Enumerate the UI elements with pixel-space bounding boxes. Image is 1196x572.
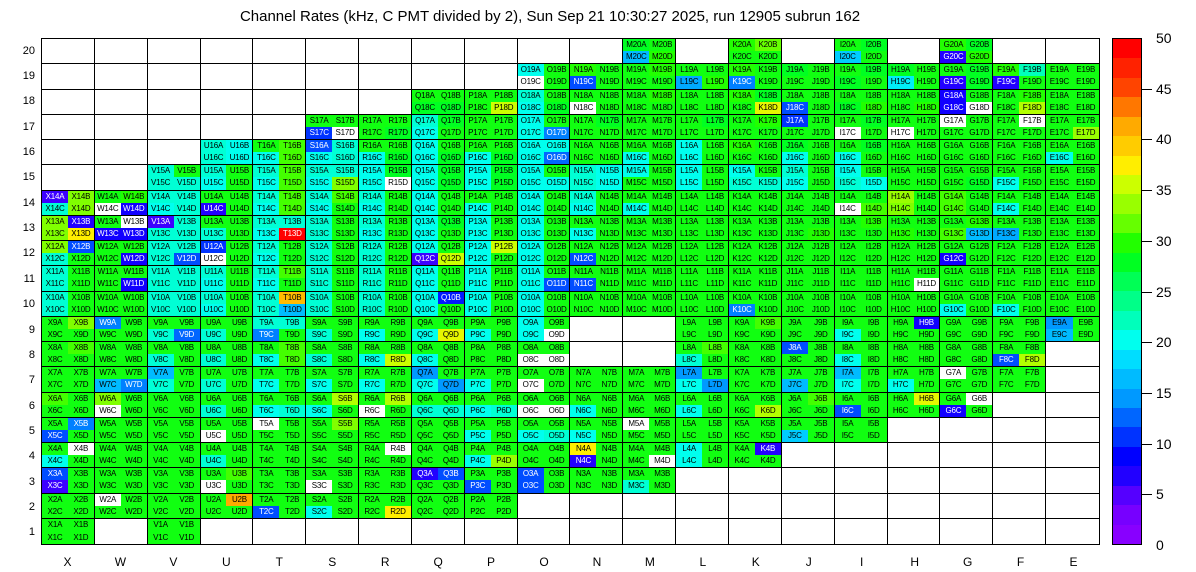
channel-cell: K10C: [729, 304, 755, 316]
channel-cell: S8B: [332, 342, 358, 354]
channel-cell: M12C: [623, 253, 649, 265]
heatmap-tile: [729, 494, 782, 519]
channel-cell: W8B: [121, 342, 147, 354]
channel-cell: Q14D: [438, 203, 464, 215]
channel-cell: J15D: [808, 177, 834, 189]
channel-cell: V2A: [148, 494, 174, 506]
channel-cell: X10A: [42, 292, 68, 304]
heatmap-tile: K20AK20BK20CK20D: [729, 39, 782, 64]
heatmap-tile: Q10AQ10BQ10CQ10D: [412, 292, 465, 317]
channel-cell: O18D: [544, 102, 570, 114]
heatmap-tile: [148, 140, 201, 165]
heatmap-tile: G17AG17BG17CG17D: [940, 115, 993, 140]
channel-cell: U2C: [201, 506, 227, 518]
channel-cell: X8A: [42, 342, 68, 354]
channel-cell: S15D: [332, 177, 358, 189]
channel-cell: U10C: [201, 304, 227, 316]
channel-cell: T12D: [279, 253, 305, 265]
channel-cell: V6B: [174, 393, 200, 405]
channel-cell: K20C: [729, 51, 755, 63]
channel-cell: [914, 455, 940, 467]
channel-cell: I9B: [861, 317, 887, 329]
channel-cell: G19C: [940, 76, 966, 88]
channel-cell: [835, 468, 861, 480]
channel-cell: G10A: [940, 292, 966, 304]
heatmap-tile: T9AT9BT9CT9D: [253, 317, 306, 342]
channel-cell: [42, 152, 68, 164]
channel-cell: N19B: [596, 64, 622, 76]
channel-cell: Q5C: [412, 430, 438, 442]
heatmap-tile: [993, 519, 1046, 544]
channel-cell: U4C: [201, 455, 227, 467]
channel-cell: L18A: [676, 90, 702, 102]
channel-cell: N11B: [596, 266, 622, 278]
heatmap-tile: S7AS7BS7CS7D: [306, 367, 359, 392]
channel-cell: [966, 519, 992, 532]
channel-cell: [888, 443, 914, 455]
channel-cell: N16A: [570, 140, 596, 152]
channel-cell: S14D: [332, 203, 358, 215]
channel-cell: Q10B: [438, 292, 464, 304]
channel-cell: G9A: [940, 317, 966, 329]
channel-cell: H12C: [888, 253, 914, 265]
heatmap-tile: V14AV14BV14CV14D: [148, 191, 201, 216]
channel-cell: [570, 531, 596, 544]
channel-cell: U15B: [226, 165, 252, 177]
channel-cell: [253, 64, 279, 76]
channel-cell: F12B: [1019, 241, 1045, 253]
channel-cell: F14C: [993, 203, 1019, 215]
heatmap-tile: W7AW7BW7CW7D: [95, 367, 148, 392]
channel-cell: H19B: [914, 64, 940, 76]
channel-cell: [1046, 455, 1072, 467]
channel-cell: P16B: [491, 140, 517, 152]
heatmap-tile: H12AH12BH12CH12D: [888, 241, 941, 266]
heatmap-tile: [570, 39, 623, 64]
channel-cell: [95, 76, 121, 88]
channel-cell: [253, 76, 279, 88]
channel-cell: P15A: [465, 165, 491, 177]
channel-cell: L16A: [676, 140, 702, 152]
channel-cell: G7B: [966, 367, 992, 379]
heatmap-tile: V12AV12BV12CV12D: [148, 241, 201, 266]
channel-cell: T11B: [279, 266, 305, 278]
heatmap-plot-area: M20AM20BM20CM20DK20AK20BK20CK20DI20AI20B…: [41, 38, 1100, 545]
channel-cell: L7B: [702, 367, 728, 379]
channel-cell: R10B: [385, 292, 411, 304]
channel-cell: [95, 115, 121, 127]
channel-cell: R11A: [359, 266, 385, 278]
channel-cell: [1073, 430, 1099, 442]
channel-cell: G18C: [940, 102, 966, 114]
channel-cell: S2C: [306, 506, 332, 518]
heatmap-tile: [42, 115, 95, 140]
heatmap-tile: Q12AQ12BQ12CQ12D: [412, 241, 465, 266]
channel-cell: [993, 443, 1019, 455]
channel-cell: X1C: [42, 531, 68, 544]
channel-cell: X12B: [68, 241, 94, 253]
channel-cell: [1073, 379, 1099, 391]
channel-cell: J18D: [808, 102, 834, 114]
channel-cell: J5B: [808, 418, 834, 430]
channel-cell: M4A: [623, 443, 649, 455]
channel-cell: M3B: [649, 468, 675, 480]
channel-cell: K6D: [755, 405, 781, 417]
channel-cell: L19D: [702, 76, 728, 88]
y-axis-label: 20: [9, 45, 35, 57]
channel-cell: V10D: [174, 304, 200, 316]
channel-cell: T15A: [253, 165, 279, 177]
channel-cell: H14C: [888, 203, 914, 215]
channel-cell: W11C: [95, 278, 121, 290]
channel-cell: R4B: [385, 443, 411, 455]
channel-cell: [993, 494, 1019, 506]
channel-cell: [649, 506, 675, 518]
channel-cell: R15A: [359, 165, 385, 177]
heatmap-tile: I14AI14BI14CI14D: [835, 191, 888, 216]
y-axis-label: 7: [9, 374, 35, 386]
channel-cell: [359, 39, 385, 51]
channel-cell: O6C: [518, 405, 544, 417]
channel-cell: R16D: [385, 152, 411, 164]
channel-cell: Q13B: [438, 216, 464, 228]
channel-cell: F11C: [993, 278, 1019, 290]
channel-cell: L16C: [676, 152, 702, 164]
channel-cell: W4D: [121, 455, 147, 467]
channel-cell: G7C: [940, 379, 966, 391]
channel-cell: V8C: [148, 354, 174, 366]
channel-cell: K20D: [755, 51, 781, 63]
channel-cell: X7A: [42, 367, 68, 379]
channel-cell: [676, 39, 702, 51]
channel-cell: T6C: [253, 405, 279, 417]
heatmap-tile: Q18AQ18BQ18CQ18D: [412, 90, 465, 115]
heatmap-tile: G8AG8BG8CG8D: [940, 342, 993, 367]
channel-cell: U6A: [201, 393, 227, 405]
channel-cell: V3D: [174, 480, 200, 492]
channel-cell: H10C: [888, 304, 914, 316]
heatmap-tile: L19AL19BL19CL19D: [676, 64, 729, 89]
channel-cell: [42, 51, 68, 63]
channel-cell: S3B: [332, 468, 358, 480]
channel-cell: E9D: [1073, 329, 1099, 341]
heatmap-tile: V15AV15BV15CV15D: [148, 165, 201, 190]
channel-cell: H9D: [914, 329, 940, 341]
heatmap-tile: [676, 39, 729, 64]
channel-cell: L10C: [676, 304, 702, 316]
channel-cell: N11C: [570, 278, 596, 290]
heatmap-tile: S14AS14BS14CS14D: [306, 191, 359, 216]
colorbar-tick: [1142, 241, 1152, 242]
channel-cell: N17C: [570, 127, 596, 139]
channel-cell: W12A: [95, 241, 121, 253]
heatmap-tile: [676, 519, 729, 544]
channel-cell: E10D: [1073, 304, 1099, 316]
heatmap-tile: [993, 443, 1046, 468]
channel-cell: O19D: [544, 76, 570, 88]
heatmap-tile: [359, 519, 412, 544]
channel-cell: [782, 519, 808, 532]
channel-cell: S7C: [306, 379, 332, 391]
channel-cell: [993, 430, 1019, 442]
channel-cell: Q8A: [412, 342, 438, 354]
channel-cell: [306, 64, 332, 76]
heatmap-tile: P7AP7BP7CP7D: [465, 367, 518, 392]
channel-cell: H19A: [888, 64, 914, 76]
channel-cell: [306, 76, 332, 88]
channel-cell: Q2D: [438, 506, 464, 518]
channel-cell: V12D: [174, 253, 200, 265]
channel-cell: E10A: [1046, 292, 1072, 304]
channel-cell: L14D: [702, 203, 728, 215]
channel-cell: P17D: [491, 127, 517, 139]
channel-cell: T2C: [253, 506, 279, 518]
channel-cell: F8B: [1019, 342, 1045, 354]
channel-cell: O15D: [544, 177, 570, 189]
channel-cell: R5A: [359, 418, 385, 430]
channel-cell: V5D: [174, 430, 200, 442]
channel-cell: H8A: [888, 342, 914, 354]
channel-cell: S4C: [306, 455, 332, 467]
heatmap-tile: H18AH18BH18CH18D: [888, 90, 941, 115]
heatmap-tile: M3AM3BM3CM3D: [623, 468, 676, 493]
channel-cell: T5C: [253, 430, 279, 442]
channel-cell: R4D: [385, 455, 411, 467]
channel-cell: V9A: [148, 317, 174, 329]
channel-cell: G13D: [966, 228, 992, 240]
channel-cell: K19D: [755, 76, 781, 88]
channel-cell: G19D: [966, 76, 992, 88]
channel-cell: I13A: [835, 216, 861, 228]
channel-cell: I13D: [861, 228, 887, 240]
channel-cell: [1019, 468, 1045, 480]
heatmap-tile: F10AF10BF10CF10D: [993, 292, 1046, 317]
channel-cell: [993, 39, 1019, 51]
channel-cell: [940, 506, 966, 518]
channel-cell: [914, 480, 940, 492]
channel-cell: P18B: [491, 90, 517, 102]
channel-cell: O6B: [544, 393, 570, 405]
channel-cell: [359, 76, 385, 88]
channel-cell: O7B: [544, 367, 570, 379]
channel-cell: H12A: [888, 241, 914, 253]
heatmap-tile: G18AG18BG18CG18D: [940, 90, 993, 115]
channel-cell: [121, 152, 147, 164]
channel-cell: [544, 494, 570, 506]
channel-cell: S4B: [332, 443, 358, 455]
channel-cell: O12B: [544, 241, 570, 253]
channel-cell: [544, 531, 570, 544]
channel-cell: S13A: [306, 216, 332, 228]
channel-cell: [332, 76, 358, 88]
heatmap-tile: V4AV4BV4CV4D: [148, 443, 201, 468]
heatmap-tile: U15AU15BU15CU15D: [201, 165, 254, 190]
heatmap-tile: U9AU9BU9CU9D: [201, 317, 254, 342]
channel-cell: L18B: [702, 90, 728, 102]
channel-cell: R16B: [385, 140, 411, 152]
channel-cell: N14B: [596, 191, 622, 203]
channel-cell: F11A: [993, 266, 1019, 278]
channel-cell: [835, 455, 861, 467]
heatmap-tile: E11AE11BE11CE11D: [1046, 266, 1099, 291]
x-axis-label: R: [381, 555, 390, 569]
channel-cell: Q14B: [438, 191, 464, 203]
channel-cell: K20B: [755, 39, 781, 51]
channel-cell: X6B: [68, 393, 94, 405]
channel-cell: [279, 76, 305, 88]
channel-cell: [676, 506, 702, 518]
channel-cell: [359, 102, 385, 114]
channel-cell: K15A: [729, 165, 755, 177]
channel-cell: [1046, 468, 1072, 480]
channel-cell: [808, 480, 834, 492]
channel-cell: U7C: [201, 379, 227, 391]
channel-cell: F13B: [1019, 216, 1045, 228]
channel-cell: U14A: [201, 191, 227, 203]
channel-cell: F16D: [1019, 152, 1045, 164]
channel-cell: V7D: [174, 379, 200, 391]
heatmap-tile: R7AR7BR7CR7D: [359, 367, 412, 392]
channel-cell: G8A: [940, 342, 966, 354]
channel-cell: M14D: [649, 203, 675, 215]
channel-cell: [835, 519, 861, 532]
channel-cell: O17D: [544, 127, 570, 139]
channel-cell: S4D: [332, 455, 358, 467]
heatmap-tile: [888, 468, 941, 493]
channel-cell: S8A: [306, 342, 332, 354]
channel-cell: U12B: [226, 241, 252, 253]
channel-cell: [491, 531, 517, 544]
heatmap-tile: X11AX11BX11CX11D: [42, 266, 95, 291]
channel-cell: M11C: [623, 278, 649, 290]
channel-cell: T16C: [253, 152, 279, 164]
y-axis-label: 10: [9, 298, 35, 310]
channel-cell: [95, 165, 121, 177]
channel-cell: M11A: [623, 266, 649, 278]
channel-cell: [755, 494, 781, 506]
channel-cell: V2D: [174, 506, 200, 518]
channel-cell: J16C: [782, 152, 808, 164]
channel-cell: Q3C: [412, 480, 438, 492]
channel-cell: [966, 455, 992, 467]
channel-cell: T3C: [253, 480, 279, 492]
channel-cell: G12B: [966, 241, 992, 253]
channel-cell: T6B: [279, 393, 305, 405]
heatmap-tile: G16AG16BG16CG16D: [940, 140, 993, 165]
channel-cell: M19A: [623, 64, 649, 76]
heatmap-tile: U2AU2BU2CU2D: [201, 494, 254, 519]
channel-cell: J6C: [782, 405, 808, 417]
heatmap-tile: [359, 90, 412, 115]
channel-cell: [201, 39, 227, 51]
channel-cell: W13C: [95, 228, 121, 240]
heatmap-tile: R10AR10BR10CR10D: [359, 292, 412, 317]
channel-cell: [782, 455, 808, 467]
channel-cell: [279, 51, 305, 63]
channel-cell: G12D: [966, 253, 992, 265]
channel-cell: M17A: [623, 115, 649, 127]
channel-cell: S16C: [306, 152, 332, 164]
channel-cell: [623, 354, 649, 366]
heatmap-tile: L11AL11BL11CL11D: [676, 266, 729, 291]
channel-cell: [68, 152, 94, 164]
heatmap-tile: R13AR13BR13CR13D: [359, 216, 412, 241]
channel-cell: [993, 51, 1019, 63]
channel-cell: R17C: [359, 127, 385, 139]
channel-cell: [385, 90, 411, 102]
channel-cell: U11A: [201, 266, 227, 278]
channel-cell: [121, 519, 147, 532]
channel-cell: [570, 354, 596, 366]
channel-cell: J5A: [782, 418, 808, 430]
channel-cell: S8D: [332, 354, 358, 366]
channel-cell: G20B: [966, 39, 992, 51]
channel-cell: N15C: [570, 177, 596, 189]
channel-cell: O17B: [544, 115, 570, 127]
channel-cell: H13D: [914, 228, 940, 240]
channel-cell: G19A: [940, 64, 966, 76]
heatmap-tile: I16AI16BI16CI16D: [835, 140, 888, 165]
channel-cell: H10D: [914, 304, 940, 316]
channel-cell: [649, 342, 675, 354]
channel-cell: J14A: [782, 191, 808, 203]
channel-cell: Q17B: [438, 115, 464, 127]
channel-cell: F18D: [1019, 102, 1045, 114]
heatmap-tile: I7AI7BI7CI7D: [835, 367, 888, 392]
channel-cell: R6B: [385, 393, 411, 405]
channel-cell: N7C: [570, 379, 596, 391]
channel-cell: [676, 494, 702, 506]
channel-cell: U15C: [201, 177, 227, 189]
channel-cell: [702, 506, 728, 518]
channel-cell: K10B: [755, 292, 781, 304]
heatmap-tile: [835, 519, 888, 544]
channel-cell: [1073, 506, 1099, 518]
heatmap-tile: J12AJ12BJ12CJ12D: [782, 241, 835, 266]
x-axis-label: V: [169, 555, 177, 569]
channel-cell: Q16C: [412, 152, 438, 164]
channel-cell: N16C: [570, 152, 596, 164]
channel-cell: [782, 51, 808, 63]
channel-cell: M17C: [623, 127, 649, 139]
channel-cell: R8A: [359, 342, 385, 354]
channel-cell: O16D: [544, 152, 570, 164]
channel-cell: M18C: [623, 102, 649, 114]
channel-cell: V2C: [148, 506, 174, 518]
channel-cell: X14C: [42, 203, 68, 215]
heatmap-tile: [623, 494, 676, 519]
channel-cell: U6B: [226, 393, 252, 405]
channel-cell: E18B: [1073, 90, 1099, 102]
channel-cell: [623, 342, 649, 354]
channel-cell: H12D: [914, 253, 940, 265]
heatmap-tile: V7AV7BV7CV7D: [148, 367, 201, 392]
channel-cell: [68, 115, 94, 127]
channel-cell: H7B: [914, 367, 940, 379]
channel-cell: N14D: [596, 203, 622, 215]
channel-cell: [253, 531, 279, 544]
channel-cell: T7A: [253, 367, 279, 379]
channel-cell: T14B: [279, 191, 305, 203]
heatmap-tile: N17AN17BN17CN17D: [570, 115, 623, 140]
channel-cell: T4A: [253, 443, 279, 455]
channel-cell: [1019, 494, 1045, 506]
channel-cell: E19A: [1046, 64, 1072, 76]
heatmap-tile: [782, 468, 835, 493]
heatmap-tile: U16AU16BU16CU16D: [201, 140, 254, 165]
channel-cell: [888, 506, 914, 518]
channel-cell: F15D: [1019, 177, 1045, 189]
